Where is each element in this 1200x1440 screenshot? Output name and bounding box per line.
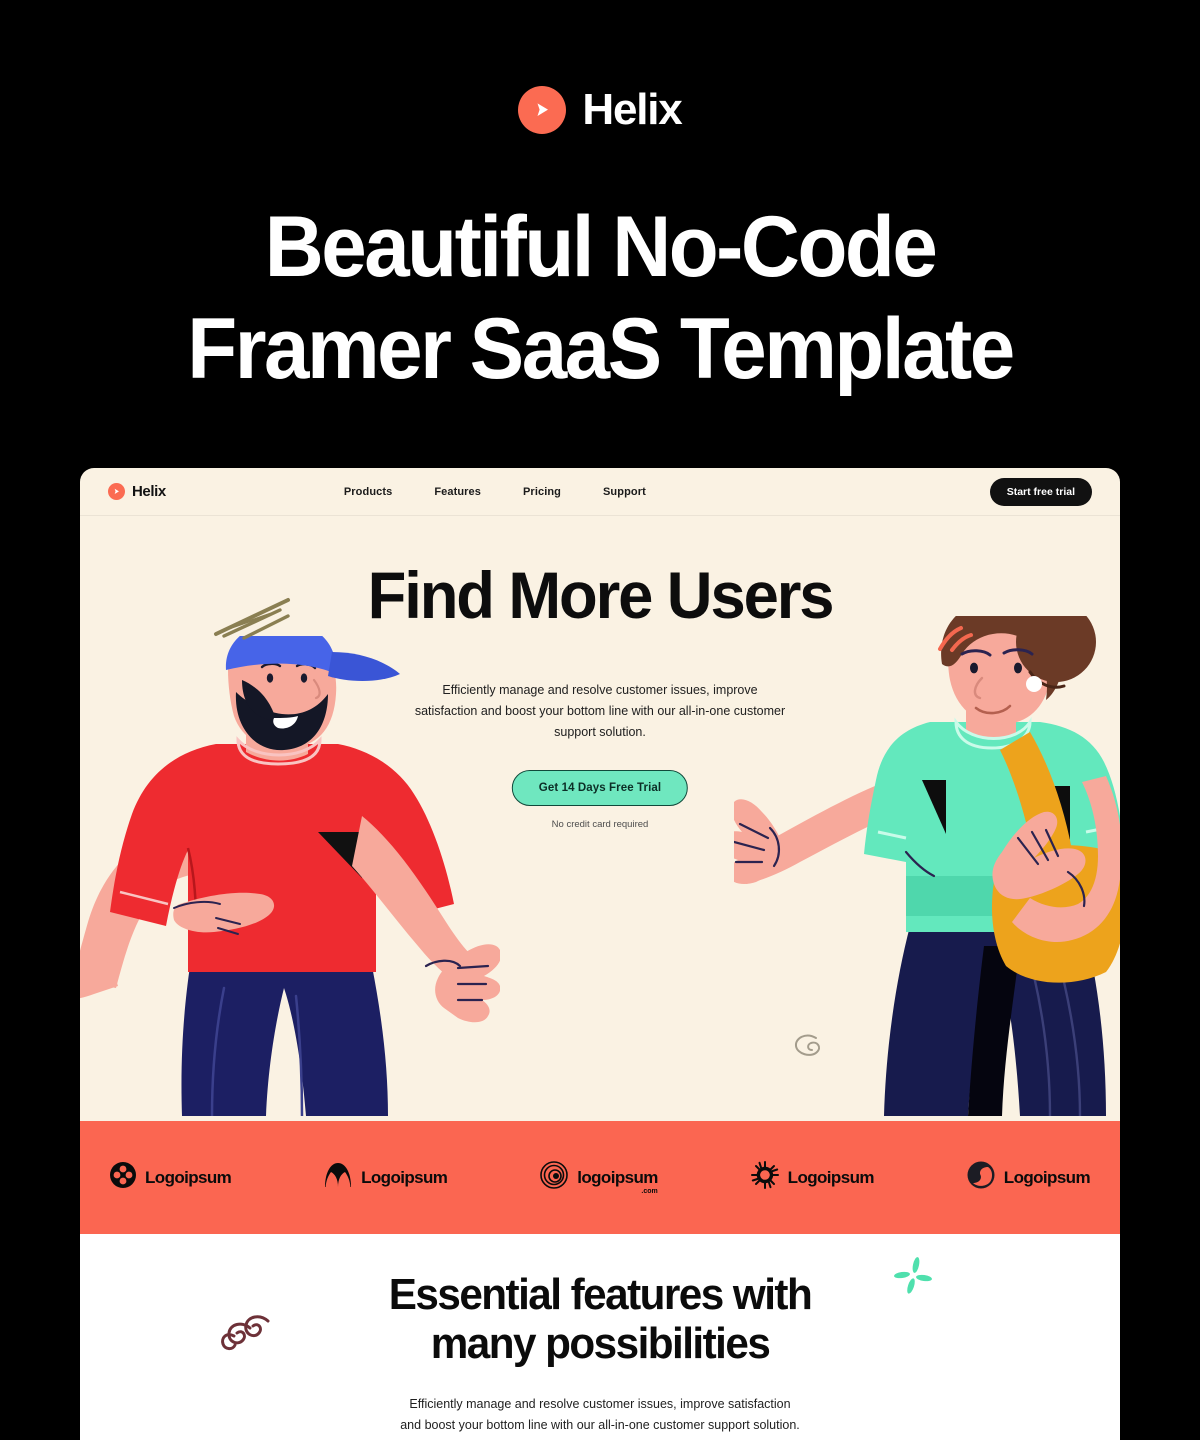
promo-brand-logo: Helix [0, 86, 1200, 134]
play-circle-icon [518, 86, 566, 134]
get-free-trial-button[interactable]: Get 14 Days Free Trial [512, 770, 688, 806]
logo-item-label: Logoipsum [788, 1168, 874, 1188]
logo-item-text: logoipsum [577, 1168, 658, 1187]
sunburst-icon [751, 1161, 779, 1194]
site-navbar: Helix Products Features Pricing Support … [80, 468, 1120, 516]
spiral-rings-icon [540, 1161, 568, 1194]
features-title-line2: many possibilities [431, 1319, 770, 1368]
page-title-line2: Framer SaaS Template [30, 298, 1170, 400]
hero-note: No credit card required [80, 819, 1120, 830]
logo-item: logoipsum.com [540, 1161, 658, 1194]
arch-dome-icon [324, 1162, 352, 1193]
nav-link-features[interactable]: Features [434, 486, 481, 498]
logo-item: Logoipsum [110, 1162, 231, 1193]
start-free-trial-button[interactable]: Start free trial [990, 478, 1092, 506]
hero-subtitle: Efficiently manage and resolve customer … [410, 680, 790, 742]
logo-item: Logoipsum [324, 1162, 447, 1193]
logo-item-label: Logoipsum [145, 1168, 231, 1188]
logo-item-label: Logoipsum [1004, 1168, 1090, 1188]
clover-circle-icon [110, 1162, 136, 1193]
hero-section: Find More Users Efficiently manage and r… [80, 516, 1120, 1121]
navbar-links: Products Features Pricing Support [344, 486, 646, 498]
page-title-line1: Beautiful No-Code [265, 199, 936, 295]
navbar-brand[interactable]: Helix [108, 483, 166, 500]
site-preview-card: Helix Products Features Pricing Support … [80, 468, 1120, 1440]
nav-link-pricing[interactable]: Pricing [523, 486, 561, 498]
logo-item-label: logoipsum.com [577, 1168, 658, 1188]
hero-headline: Find More Users [101, 562, 1099, 628]
features-title: Essential features with many possibiliti… [101, 1270, 1099, 1369]
woman-with-bag-illustration [734, 616, 1120, 1121]
play-circle-icon [108, 483, 125, 500]
logo-strip: Logoipsum Logoipsum [80, 1121, 1120, 1234]
features-section: Essential features with many possibiliti… [80, 1234, 1120, 1440]
navbar-brand-name: Helix [132, 483, 166, 500]
page-title: Beautiful No-Code Framer SaaS Template [30, 196, 1170, 401]
promo-brand-name: Helix [582, 88, 681, 132]
features-subtitle: Efficiently manage and resolve customer … [400, 1394, 800, 1436]
logo-item: Logoipsum [967, 1161, 1090, 1194]
logo-item-suffix: .com [641, 1188, 657, 1195]
yin-yang-circle-icon [967, 1161, 995, 1194]
nav-link-support[interactable]: Support [603, 486, 646, 498]
nav-link-products[interactable]: Products [344, 486, 392, 498]
features-title-line1: Essential features with [389, 1270, 811, 1319]
logo-item: Logoipsum [751, 1161, 874, 1194]
logo-item-label: Logoipsum [361, 1168, 447, 1188]
